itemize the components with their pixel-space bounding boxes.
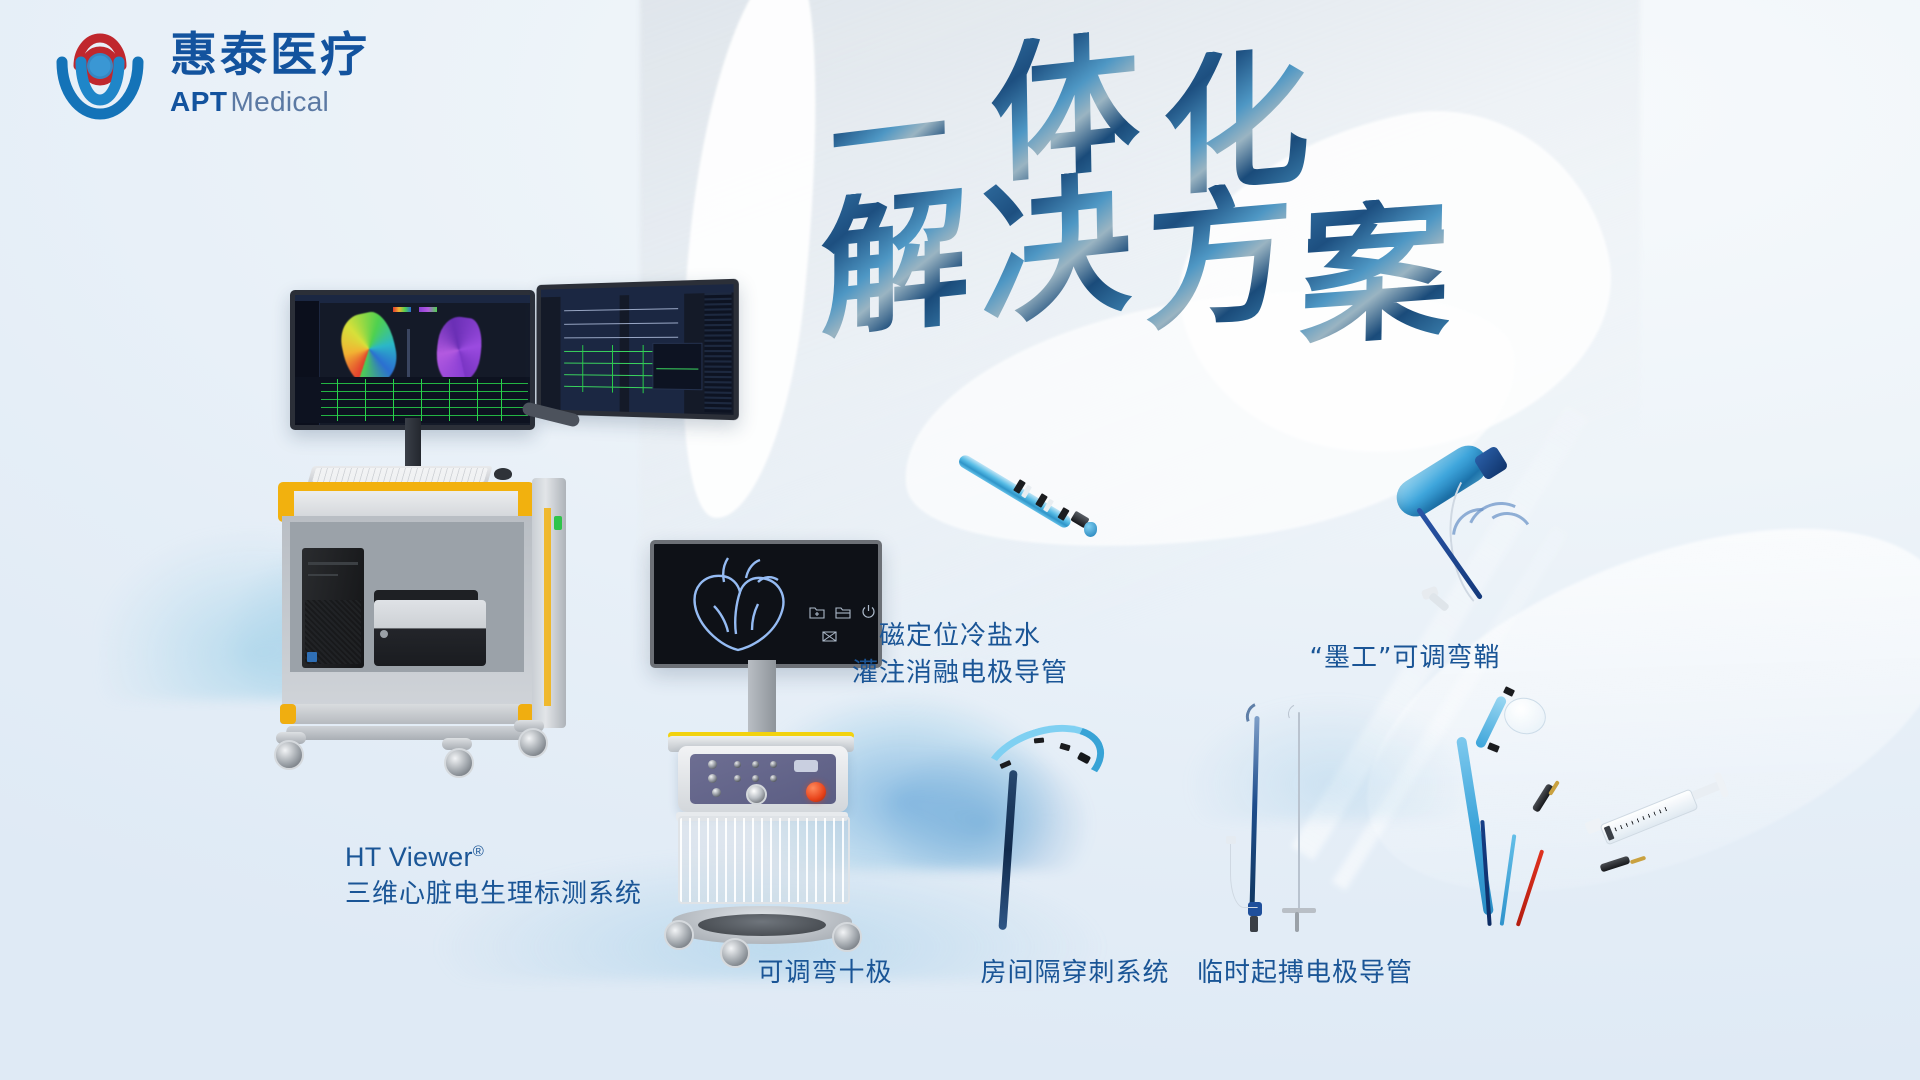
mapping-ecg-panel — [295, 377, 530, 423]
brand-name-en: APT Medical — [170, 88, 370, 116]
generator-port-1[interactable] — [708, 760, 717, 769]
product-label-pacing-catheter: 临时起搏电极导管 — [1155, 955, 1455, 992]
recorder-data-table — [704, 293, 731, 413]
generator-port-8[interactable] — [770, 775, 777, 782]
generator-main-connector[interactable] — [746, 784, 767, 805]
pacing-balloon — [1500, 693, 1549, 738]
generator-display-chip — [794, 760, 818, 772]
catheter-shaft-graphic — [407, 329, 410, 377]
new-case-icon[interactable] — [806, 606, 828, 622]
generator-port-3[interactable] — [734, 761, 741, 768]
registered-mark: ® — [473, 843, 484, 860]
needle-extension-line — [1230, 840, 1258, 908]
headline-char-4: 解 — [820, 182, 969, 349]
apt-medical-logo-mark — [48, 22, 152, 126]
pacing-catheter-distal — [1474, 695, 1508, 750]
headline-char-5: 决 — [979, 167, 1133, 335]
cart-top-rail — [286, 482, 530, 491]
color-scale-right — [419, 307, 437, 312]
ablation-generator-cart — [650, 540, 910, 1020]
product-label-decapolar: 可调弯十极 — [700, 955, 950, 992]
sheath-sidearm — [1428, 592, 1450, 612]
ht-viewer-name-cn: 三维心脏电生理标测系统 — [345, 876, 642, 913]
cpu-badge — [307, 652, 317, 662]
headline-calligraphy: 一 体 化 解 决 方 案 — [930, 40, 1630, 360]
generator-port-7[interactable] — [770, 761, 777, 768]
mapping-monitor-screen — [295, 295, 530, 425]
mapping-monitor-toolbar — [295, 295, 530, 303]
recorder-highlight-band-1 — [561, 295, 620, 411]
caster-front-left — [274, 740, 304, 770]
mouse[interactable] — [494, 468, 512, 480]
generator-port-5[interactable] — [752, 761, 759, 768]
pacing-lead-red — [1516, 849, 1545, 926]
electrophysiology-recorder-monitor — [537, 279, 739, 421]
cart-bottom-shelf — [280, 704, 534, 724]
printer — [374, 600, 486, 666]
product-label-steerable-sheath: “墨工”可调弯鞘 — [1275, 640, 1535, 677]
generator-ground-port[interactable] — [712, 788, 721, 797]
heart-graphic — [674, 552, 806, 656]
ablation-catheter-line-2: 灌注消融电极导管 — [830, 655, 1090, 692]
ablation-catheter-line-1: 磁定位冷盐水 — [830, 618, 1090, 655]
pacing-connector-red-pin — [1630, 856, 1646, 865]
power-indicator-led — [554, 516, 562, 530]
recorder-monitor-screen — [541, 284, 734, 415]
workstation-cart-body — [282, 482, 572, 767]
steerable-sheath-graphic — [1400, 440, 1700, 630]
mapping-monitor — [290, 290, 535, 430]
caster-rear-right — [518, 728, 548, 758]
monitor-stand — [405, 418, 421, 470]
brand-logo: 惠泰医疗 APT Medical — [48, 22, 370, 126]
dilator-shaft — [1298, 712, 1300, 912]
poster-canvas: 惠泰医疗 APT Medical 一 体 化 解 决 方 案 — [0, 0, 1920, 1080]
irrigated-ablation-catheter-graphic — [960, 430, 1160, 550]
cardiac-map-right — [433, 314, 486, 385]
generator-cart-base-inner — [698, 914, 826, 936]
dilator-stem — [1295, 912, 1299, 932]
transseptal-puncture-system-graphic — [1232, 690, 1362, 930]
pacing-lead-light-blue — [1500, 834, 1517, 926]
headline-char-7: 案 — [1299, 194, 1451, 355]
generator-port-6[interactable] — [752, 775, 759, 782]
generator-caster-right — [832, 922, 862, 952]
caster-front-right — [444, 748, 474, 778]
ht-viewer-name-en: HT Viewer® — [345, 838, 642, 876]
recorder-signal-inset — [652, 343, 702, 390]
dilator-handle — [1282, 908, 1316, 913]
brand-name-en-bold: APT — [170, 88, 228, 116]
color-scale-left — [393, 307, 411, 312]
pacing-connector-red — [1599, 856, 1630, 873]
generator-port-4[interactable] — [734, 775, 741, 782]
cart-bottom-bumper-left — [280, 704, 296, 724]
inflation-syringe — [1599, 788, 1698, 845]
irrigation-droplet — [1084, 522, 1097, 537]
steerable-sheath-line-1: “墨工”可调弯鞘 — [1275, 640, 1535, 677]
decapolar-line-1: 可调弯十极 — [700, 955, 950, 992]
product-label-ht-viewer: HT Viewer® 三维心脏电生理标测系统 — [345, 838, 642, 913]
generator-storage-basket — [678, 816, 850, 904]
generator-control-panel — [690, 754, 836, 804]
cart-base-frame — [285, 726, 531, 740]
decapolar-catheter-graphic — [960, 710, 1120, 930]
needle-curved-tip — [1242, 698, 1277, 734]
generator-caster-left — [664, 920, 694, 950]
dilator-curved-tip — [1285, 701, 1311, 727]
headline-char-6: 方 — [1144, 178, 1294, 340]
brand-logo-text: 惠泰医疗 APT Medical — [170, 32, 370, 116]
brand-name-cn: 惠泰医疗 — [170, 32, 370, 79]
generator-emergency-button[interactable] — [806, 782, 826, 802]
temporary-pacing-catheter-graphic — [1480, 690, 1800, 930]
cart-side-accent-strip — [544, 508, 551, 706]
product-label-ablation-catheter: 磁定位冷盐水 灌注消融电极导管 — [830, 618, 1090, 692]
pacing-catheter-line-1: 临时起搏电极导管 — [1155, 955, 1455, 992]
generator-port-2[interactable] — [708, 774, 717, 783]
extension-line-hub — [1226, 836, 1236, 844]
ablation-generator — [678, 746, 848, 812]
computer-tower — [302, 548, 364, 668]
needle-stylet — [1250, 916, 1258, 932]
brand-name-en-light: Medical — [231, 88, 330, 116]
decapolar-curved-tip — [974, 711, 1115, 820]
